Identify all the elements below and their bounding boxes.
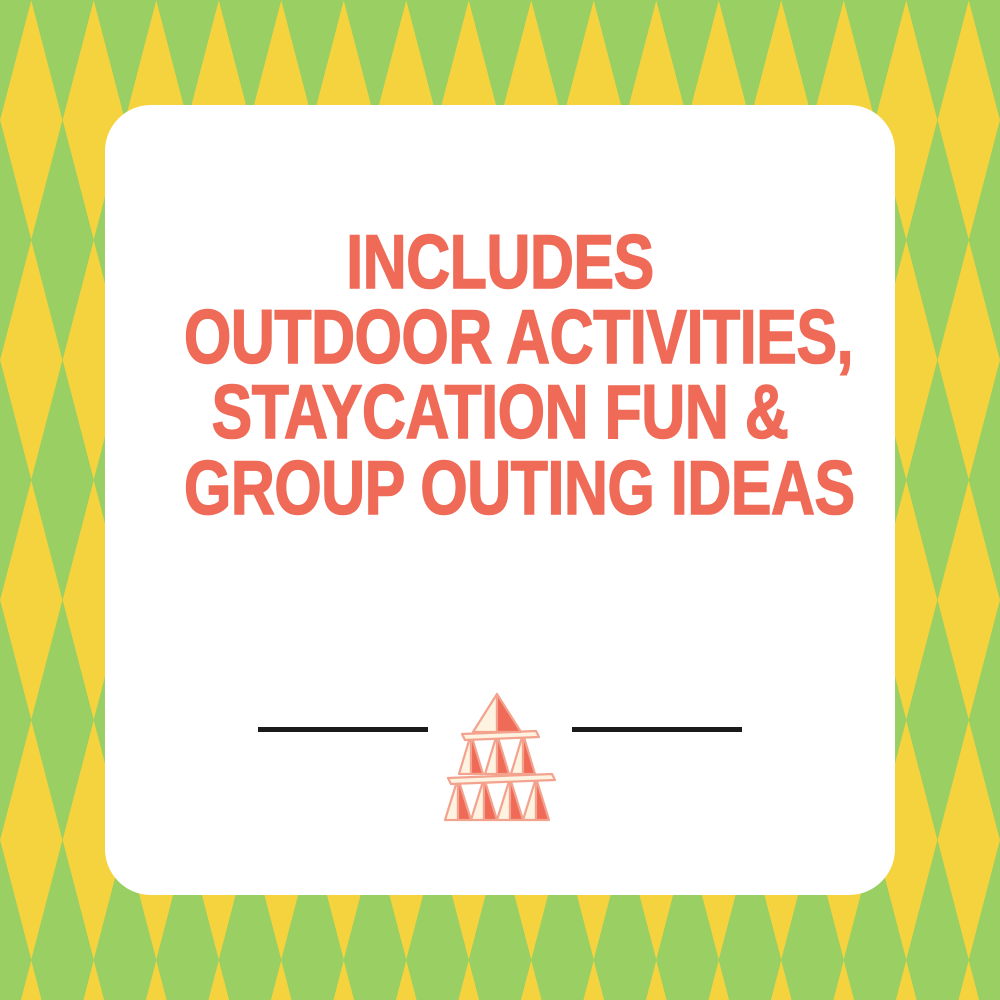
divider-rule-right [572,727,742,732]
headline-line-2: OUTDOOR ACTIVITIES, [184,300,816,375]
headline-line-3: STAYCATION FUN & [184,375,816,450]
white-rounded-card: INCLUDES OUTDOOR ACTIVITIES, STAYCATION … [105,105,895,895]
footer-divider-group [105,688,895,848]
page-title: INCLUDES OUTDOOR ACTIVITIES, STAYCATION … [105,225,895,526]
headline-line-4: GROUP OUTING IDEAS [184,451,816,526]
logo-container [428,688,572,828]
divider-rule-left [258,727,428,732]
headline-line-1: INCLUDES [184,225,816,300]
poster-canvas: INCLUDES OUTDOOR ACTIVITIES, STAYCATION … [0,0,1000,1000]
house-of-cards-icon [444,690,556,824]
